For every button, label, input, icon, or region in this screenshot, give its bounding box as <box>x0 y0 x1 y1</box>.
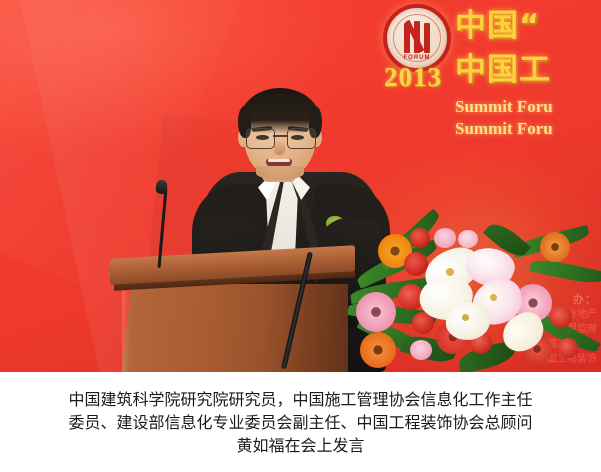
lily-stamen <box>462 314 469 321</box>
carnation-pink <box>410 340 432 360</box>
podium-shadow <box>260 284 348 372</box>
gerbera-pink <box>356 292 396 332</box>
rose-red <box>410 228 430 248</box>
podium-edge-highlight <box>122 284 130 372</box>
eyeglass-bridge <box>273 135 287 137</box>
banner-english-line-2: Summit Foru <box>455 118 601 140</box>
banner-year: 2013 <box>375 62 451 93</box>
nose <box>274 140 285 155</box>
caption-line-3: 黄如福在会上发言 <box>236 434 364 457</box>
event-photograph: FORUM 2013 中国“ 中国工 Summit Foru Summit Fo… <box>0 0 601 372</box>
podium <box>110 252 355 372</box>
photo-caption: 中国建筑科学院研究院研究员，中国施工管理协会信息化工作主任 委员、建设部信息化专… <box>0 372 601 472</box>
palm-frond <box>529 256 601 286</box>
floral-arrangement <box>362 228 601 372</box>
eyeglass-lens-right <box>287 128 316 149</box>
forum-logo-mark <box>424 23 430 53</box>
eyeglass-lens-left <box>246 128 275 149</box>
caption-line-1: 中国建筑科学院研究院研究员，中国施工管理协会信息化工作主任 <box>68 388 532 411</box>
banner-chinese-line-2: 中国工 <box>455 48 601 92</box>
gerbera-orange <box>360 332 396 368</box>
forum-logo-text: FORUM <box>387 55 447 61</box>
lily-stamen <box>490 294 497 301</box>
photo-with-caption-page: FORUM 2013 中国“ 中国工 Summit Foru Summit Fo… <box>0 0 601 472</box>
gerbera-orange <box>540 232 570 262</box>
lily-stamen <box>446 268 454 276</box>
caption-line-2: 委员、建设部信息化专业委员会副主任、中国工程装饰协会总顾问 <box>68 411 532 434</box>
carnation-pink <box>458 230 478 248</box>
chin <box>256 166 304 180</box>
teeth <box>268 159 290 162</box>
banner-english-line-1: Summit Foru <box>455 96 601 118</box>
rose-red <box>558 338 578 358</box>
banner-text-block: 中国“ 中国工 Summit Foru Summit Foru <box>455 4 601 140</box>
carnation-pink <box>434 228 456 248</box>
rose-red <box>550 306 572 328</box>
banner-chinese-line-1: 中国“ <box>455 4 601 48</box>
event-banner: FORUM 2013 中国“ 中国工 Summit Foru Summit Fo… <box>355 0 601 160</box>
